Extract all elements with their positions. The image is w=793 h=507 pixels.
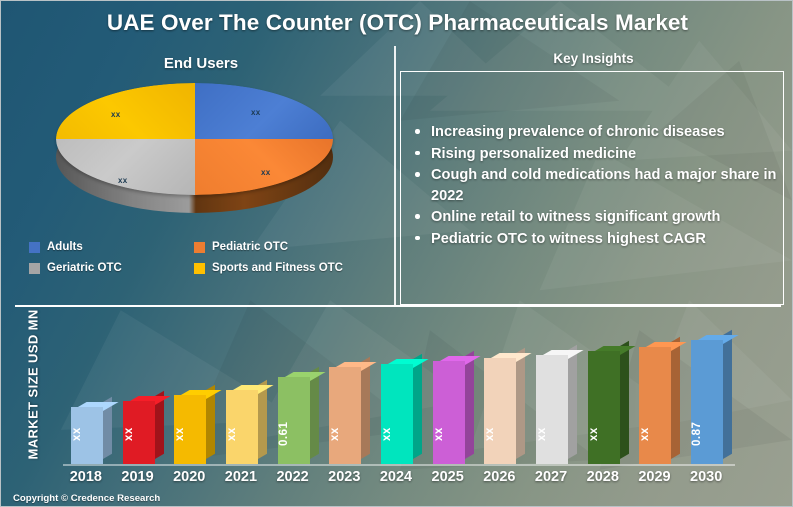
key-insight-item: Rising personalized medicine	[409, 144, 781, 165]
legend-swatch-icon	[194, 263, 205, 274]
x-tick-2021: 2021	[215, 469, 267, 485]
bullet-icon	[415, 172, 420, 177]
key-insight-text: Pediatric OTC to witness highest CAGR	[431, 231, 706, 247]
bar-2023[interactable]: xx	[329, 367, 361, 464]
bar-value-label: xx	[588, 412, 620, 456]
bar-side-face	[671, 337, 680, 459]
bar-side-face	[516, 348, 525, 459]
key-insight-text: Rising personalized medicine	[431, 146, 636, 162]
vertical-divider	[394, 46, 396, 306]
infographic-root: UAE Over The Counter (OTC) Pharmaceutica…	[0, 0, 793, 507]
legend-label-sports-and-fitness-otc: Sports and Fitness OTC	[212, 262, 343, 274]
bar-value-label: 0.61	[278, 412, 310, 456]
key-insight-item: Pediatric OTC to witness highest CAGR	[409, 229, 781, 250]
bar-value-label: xx	[226, 412, 258, 456]
key-insights-panel: Increasing prevalence of chronic disease…	[400, 71, 784, 305]
bar-value-label: xx	[381, 412, 413, 456]
legend-row: Geriatric OTC Sports and Fitness OTC	[29, 262, 387, 274]
x-tick-2028: 2028	[577, 469, 629, 485]
key-insight-item: Increasing prevalence of chronic disease…	[409, 122, 781, 143]
pie-label-adults: xx	[251, 108, 261, 117]
legend-item-adults[interactable]: Adults	[29, 241, 194, 253]
pie-label-geriatric-otc: xx	[118, 176, 128, 185]
end-users-pie-chart: xx xx xx xx	[56, 83, 346, 213]
page-title: UAE Over The Counter (OTC) Pharmaceutica…	[1, 10, 793, 36]
bar-2018[interactable]: xx	[71, 407, 103, 464]
bar-value-label: xx	[484, 412, 516, 456]
key-insight-item: Online retail to witness significant gro…	[409, 207, 781, 228]
bar-2022[interactable]: 0.61	[278, 377, 310, 464]
bar-2026[interactable]: xx	[484, 358, 516, 464]
bar-2020[interactable]: xx	[174, 395, 206, 464]
bar-side-face	[465, 351, 474, 459]
legend-swatch-icon	[29, 242, 40, 253]
bar-value-label: xx	[536, 412, 568, 456]
pie-legend: Adults Pediatric OTC Geriatric OTC Sport…	[29, 241, 387, 283]
bar-value-label: xx	[329, 412, 361, 456]
legend-item-sports-and-fitness-otc[interactable]: Sports and Fitness OTC	[194, 262, 343, 274]
x-axis-tick-labels: 2018201920202021202220232024202520262027…	[63, 469, 735, 495]
bar-2019[interactable]: xx	[123, 401, 155, 464]
legend-item-pediatric-otc[interactable]: Pediatric OTC	[194, 241, 288, 253]
x-tick-2024: 2024	[370, 469, 422, 485]
pie-slice-sports-and-fitness-otc[interactable]	[56, 83, 195, 139]
x-tick-2019: 2019	[112, 469, 164, 485]
bar-2025[interactable]: xx	[433, 361, 465, 464]
bar-2021[interactable]: xx	[226, 390, 258, 464]
legend-row: Adults Pediatric OTC	[29, 241, 387, 253]
end-users-heading: End Users	[21, 55, 381, 72]
x-tick-2025: 2025	[422, 469, 474, 485]
bar-2024[interactable]: xx	[381, 364, 413, 464]
x-tick-2027: 2027	[525, 469, 577, 485]
legend-swatch-icon	[29, 263, 40, 274]
bullet-icon	[415, 151, 420, 156]
key-insight-item: Cough and cold medications had a major s…	[409, 165, 781, 206]
x-tick-2026: 2026	[474, 469, 526, 485]
legend-label-adults: Adults	[47, 241, 83, 253]
bar-value-label: xx	[123, 412, 155, 456]
bar-value-label: xx	[174, 412, 206, 456]
x-tick-2030: 2030	[680, 469, 732, 485]
bar-side-face	[723, 329, 732, 459]
bullet-icon	[415, 236, 420, 241]
bar-side-face	[568, 345, 577, 459]
legend-label-pediatric-otc: Pediatric OTC	[212, 241, 288, 253]
bar-side-face	[620, 341, 629, 459]
x-tick-2023: 2023	[318, 469, 370, 485]
legend-swatch-icon	[194, 242, 205, 253]
pie-label-sports-and-fitness-otc: xx	[111, 110, 121, 119]
bar-2027[interactable]: xx	[536, 355, 568, 464]
bar-side-face	[361, 357, 370, 459]
bar-plot-area: xxxxxxxx0.61xxxxxxxxxxxxxx0.87	[63, 309, 735, 464]
y-axis-label: MARKET SIZE USD MN	[26, 320, 41, 460]
bar-value-label: xx	[639, 412, 671, 456]
key-insight-text: Online retail to witness significant gro…	[431, 209, 720, 225]
x-axis-baseline	[63, 464, 735, 466]
x-tick-2018: 2018	[60, 469, 112, 485]
copyright-text: Copyright © Credence Research	[13, 493, 160, 504]
bar-2028[interactable]: xx	[588, 351, 620, 464]
pie-top-face	[56, 83, 333, 195]
legend-item-geriatric-otc[interactable]: Geriatric OTC	[29, 262, 194, 274]
bar-2030[interactable]: 0.87	[691, 340, 723, 464]
bar-value-label: xx	[433, 412, 465, 456]
key-insights-list: Increasing prevalence of chronic disease…	[409, 122, 781, 250]
pie-slice-adults[interactable]	[195, 83, 334, 139]
bar-value-label: xx	[71, 412, 103, 456]
x-tick-2022: 2022	[267, 469, 319, 485]
title-bar: UAE Over The Counter (OTC) Pharmaceutica…	[1, 1, 793, 49]
bar-value-label: 0.87	[691, 412, 723, 456]
key-insight-text: Cough and cold medications had a major s…	[431, 167, 776, 204]
bar-side-face	[413, 354, 422, 459]
market-size-bar-chart: MARKET SIZE USD MN xxxxxxxx0.61xxxxxxxxx…	[1, 307, 793, 507]
bullet-icon	[415, 214, 420, 219]
x-tick-2020: 2020	[163, 469, 215, 485]
x-tick-2029: 2029	[629, 469, 681, 485]
pie-slice-pediatric-otc[interactable]	[195, 139, 334, 195]
key-insight-text: Increasing prevalence of chronic disease…	[431, 124, 725, 140]
pie-label-pediatric-otc: xx	[261, 168, 271, 177]
bullet-icon	[415, 129, 420, 134]
key-insights-heading: Key Insights	[401, 51, 786, 66]
legend-label-geriatric-otc: Geriatric OTC	[47, 262, 122, 274]
bar-2029[interactable]: xx	[639, 347, 671, 464]
